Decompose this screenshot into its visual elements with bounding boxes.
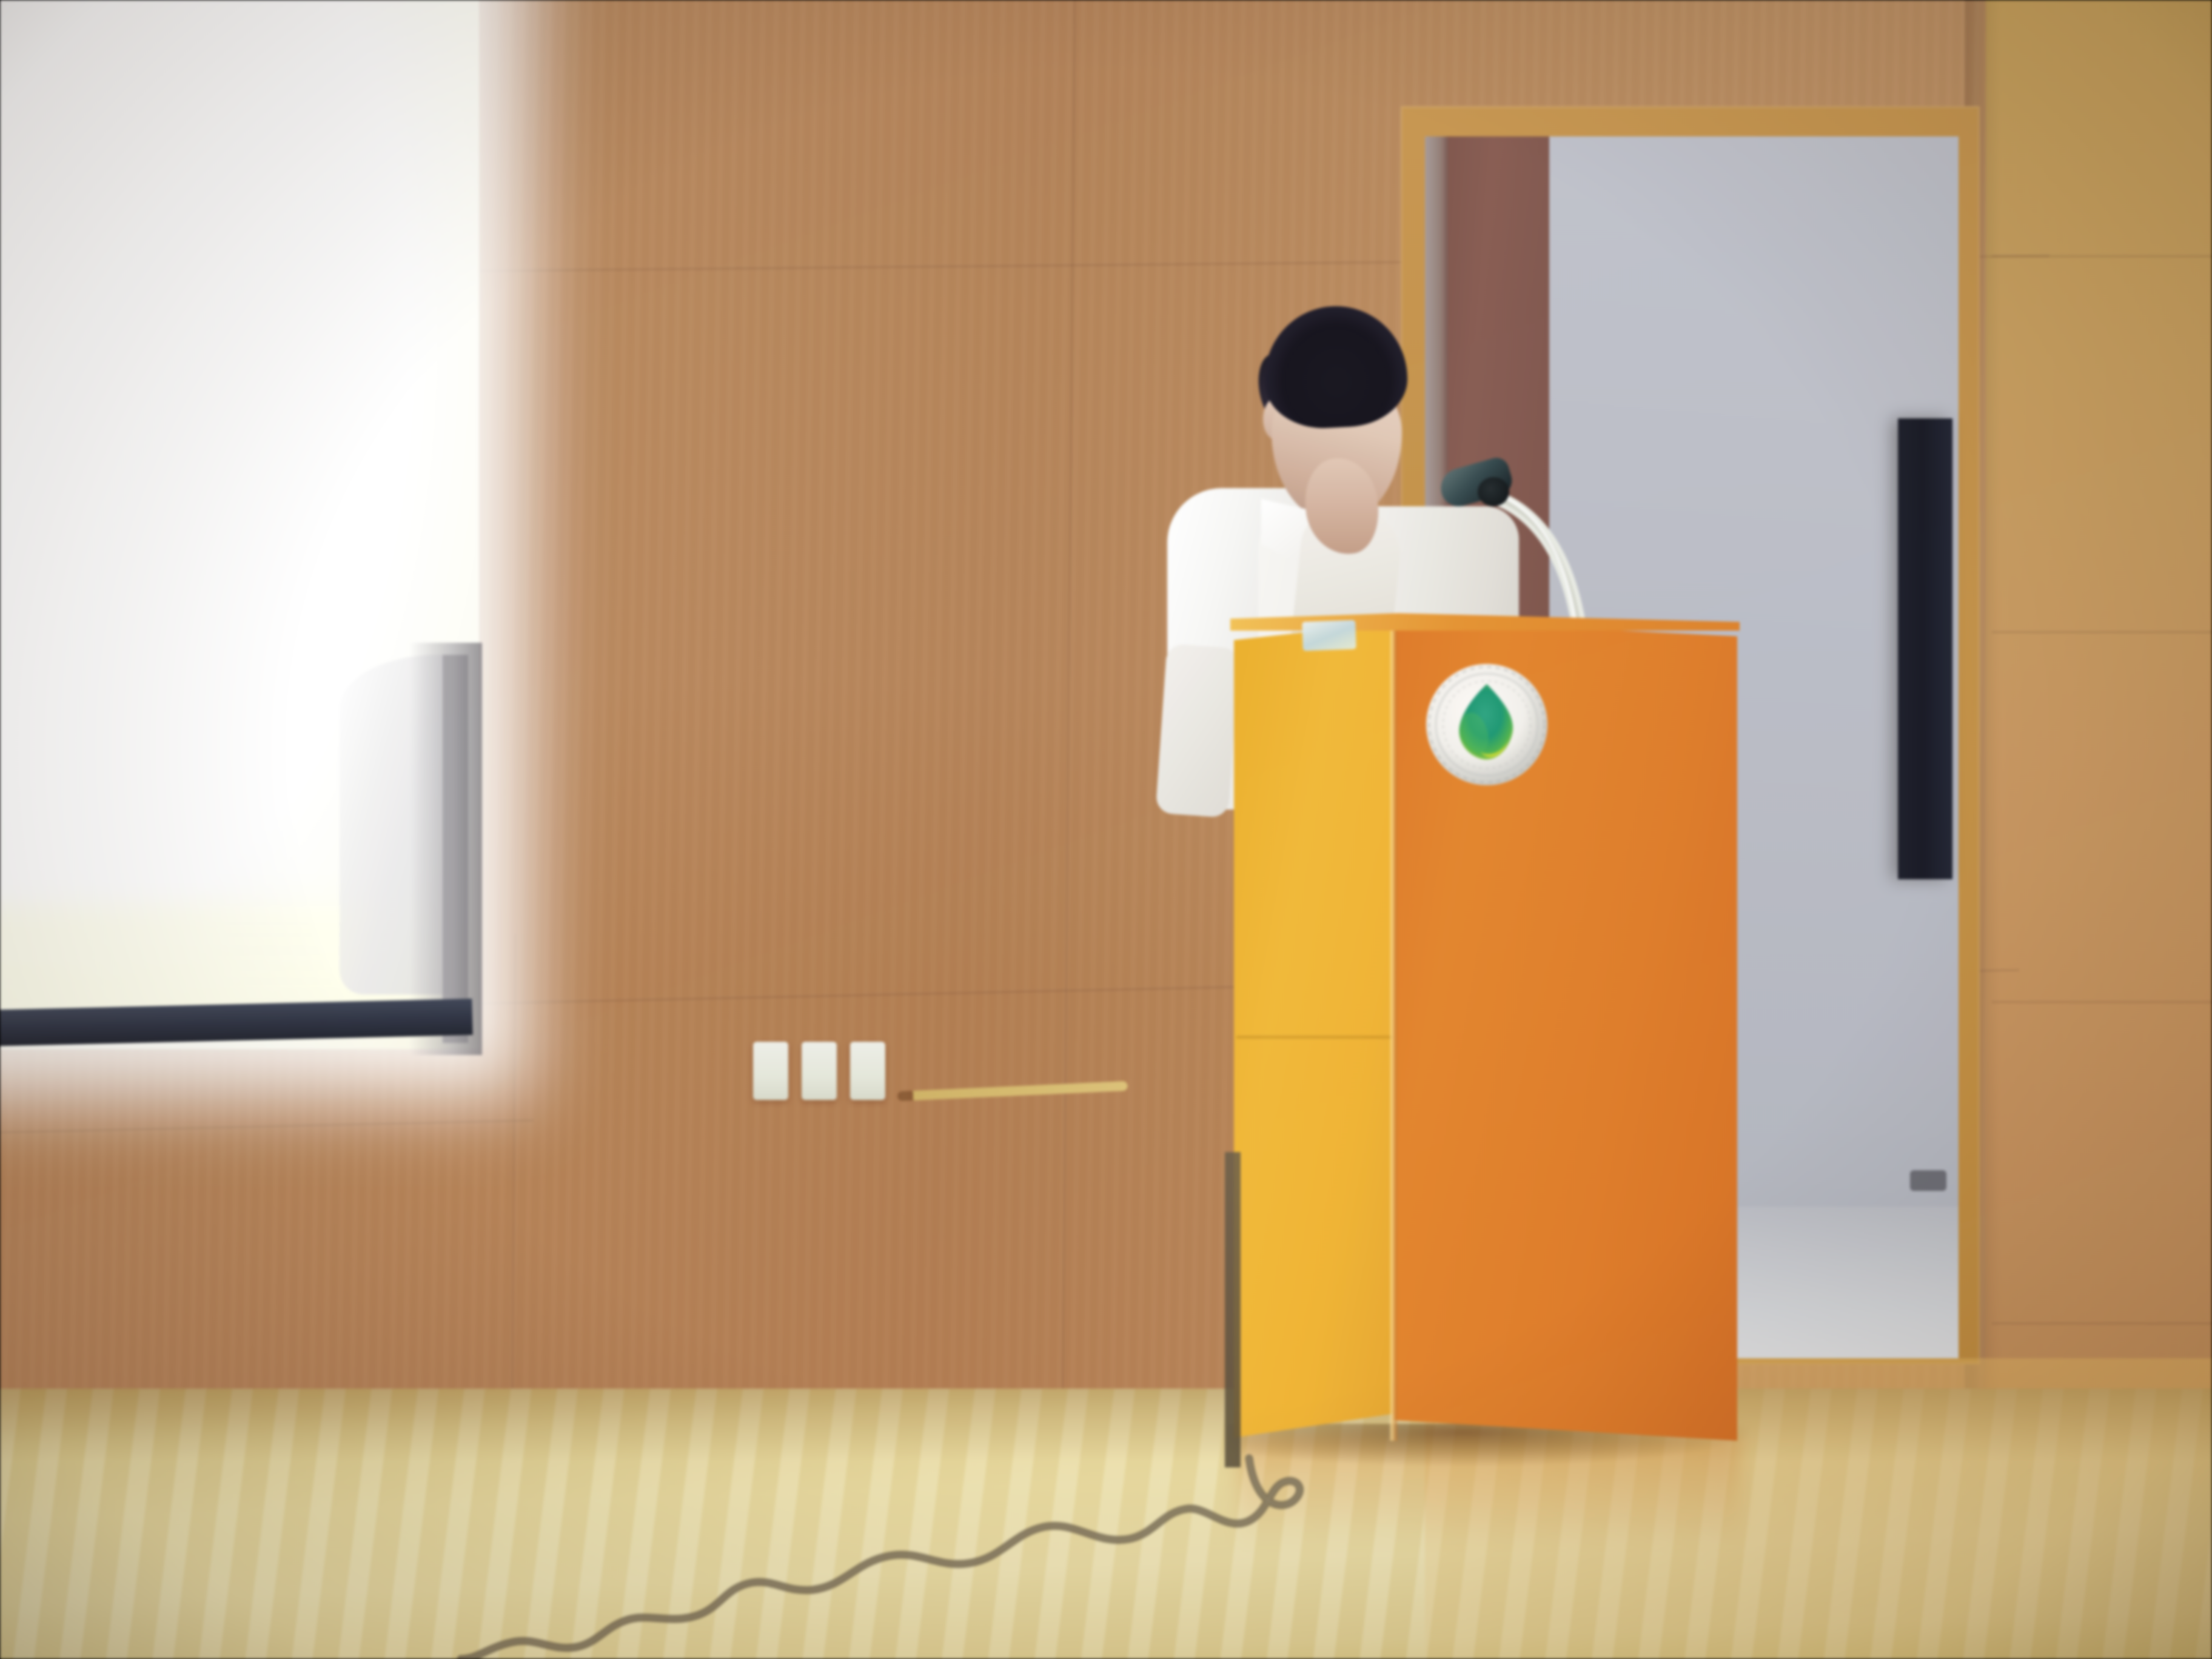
lectern-side-panel: [1234, 622, 1396, 1438]
outlet-plate-1[interactable]: [753, 1042, 788, 1100]
wall-seam-horizontal: [1992, 1322, 2212, 1325]
institution-seal: [1422, 661, 1552, 789]
projection-screen: [0, 0, 509, 1091]
lectern-corner-edge: [1390, 617, 1397, 1441]
lectern[interactable]: [1234, 617, 1737, 1448]
photo-scene: Blurry photograph of a man speaking at a…: [0, 0, 2212, 1659]
loudspeaker-column: [1898, 418, 1952, 879]
lectern-side-seam: [1236, 1036, 1395, 1039]
corner-sticker: [1302, 620, 1356, 651]
wall-seam-horizontal: [1992, 255, 2212, 258]
screen-right-shadow: [409, 643, 482, 1055]
outlet-plate-2[interactable]: [802, 1042, 837, 1100]
microphone-capsule: [1478, 477, 1509, 506]
wood-wall-right-section: [1986, 0, 2212, 1395]
loudspeaker-column-foot: [1910, 1170, 1946, 1191]
speaker-hair: [1261, 303, 1410, 431]
wall-seam-horizontal: [1992, 1000, 2212, 1004]
wall-outlet-plates[interactable]: [753, 1042, 917, 1114]
audio-cable: [0, 1352, 2212, 1659]
speaker-lower-arm: [1155, 643, 1239, 818]
wall-seam-horizontal: [1992, 631, 2212, 634]
outlet-plate-3[interactable]: [850, 1042, 885, 1100]
